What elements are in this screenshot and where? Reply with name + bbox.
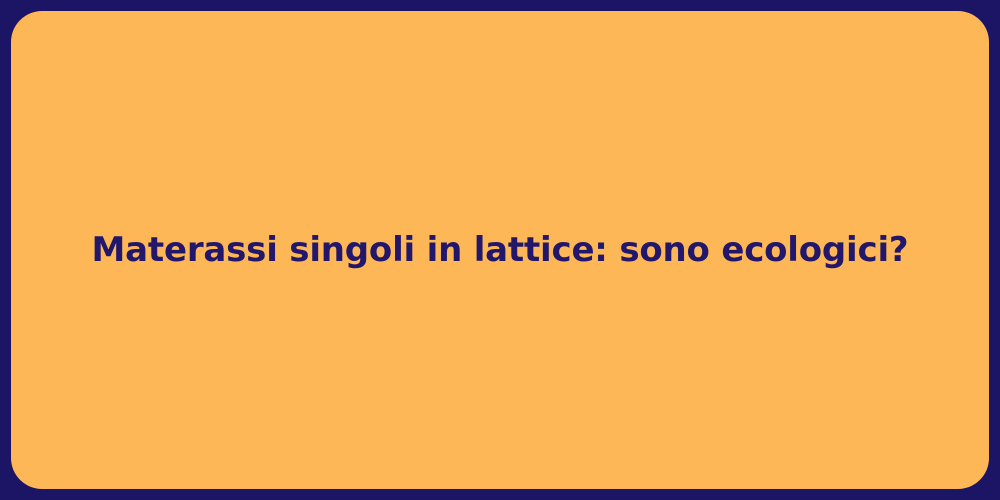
banner-frame: Materassi singoli in lattice: sono ecolo… [0, 0, 1000, 500]
page-title: Materassi singoli in lattice: sono ecolo… [52, 229, 949, 272]
banner-card: Materassi singoli in lattice: sono ecolo… [11, 11, 989, 489]
